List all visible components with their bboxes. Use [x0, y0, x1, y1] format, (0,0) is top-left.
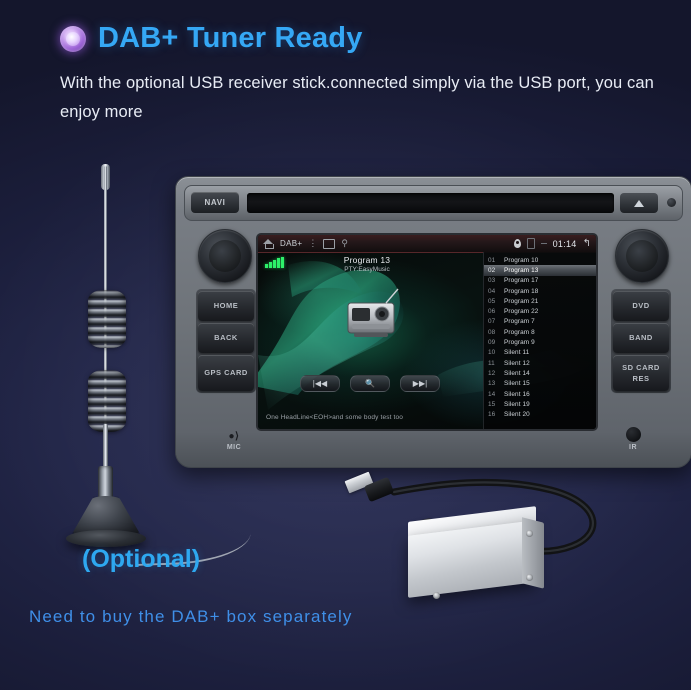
program-index: 06 — [488, 308, 499, 315]
box-screw-icon — [433, 592, 440, 599]
radio-text-ticker: One HeadLine<EOH>and some body test too — [266, 414, 471, 421]
program-list[interactable]: 01Program 1002Program 1303Program 1704Pr… — [483, 252, 596, 429]
program-name: Program 8 — [504, 329, 535, 336]
mic-label: MIC — [227, 444, 241, 451]
microphone: ●⟩ MIC — [214, 432, 254, 451]
program-index: 12 — [488, 370, 499, 377]
radio-receiver-image — [336, 287, 406, 345]
reset-label: RES — [633, 374, 650, 383]
dab-usb-receiver-box — [336, 468, 606, 620]
back-arrow-icon[interactable]: ↰ — [583, 239, 591, 249]
program-name: Program 22 — [504, 308, 538, 315]
program-index: 14 — [488, 391, 499, 398]
program-name: Silent 20 — [504, 411, 530, 418]
program-list-item[interactable]: 11Silent 12 — [484, 358, 596, 368]
source-label: DAB+ — [280, 239, 302, 248]
program-name: Program 10 — [504, 257, 538, 264]
program-name: Silent 15 — [504, 380, 530, 387]
program-name: Program 17 — [504, 277, 538, 284]
program-list-item[interactable]: 13Silent 15 — [484, 379, 596, 389]
display-icon — [323, 239, 335, 249]
stereo-top-bar: NAVI — [184, 185, 683, 221]
program-name: Program 9 — [504, 339, 535, 346]
program-list-item[interactable]: 05Program 21 — [484, 296, 596, 306]
program-index: 08 — [488, 329, 499, 336]
location-pin-icon — [514, 239, 521, 248]
box-screw-icon — [526, 574, 533, 581]
microphone-wave-icon: ●⟩ — [214, 432, 254, 442]
band-hardware-button[interactable]: BAND — [613, 323, 669, 353]
program-list-item[interactable]: 06Program 22 — [484, 306, 596, 316]
usb-icon: ⚲ — [341, 239, 348, 248]
battery-icon — [527, 238, 535, 249]
home-icon[interactable] — [263, 239, 274, 248]
program-list-item[interactable]: 16Silent 20 — [484, 409, 596, 419]
vertical-dots-icon[interactable]: ⋮ — [308, 239, 317, 248]
program-list-item[interactable]: 12Silent 14 — [484, 368, 596, 378]
program-index: 02 — [488, 267, 499, 274]
optional-caption: (Optional) — [82, 545, 200, 574]
transport-controls: |◀◀ 🔍 ▶▶| — [300, 375, 440, 392]
program-list-item[interactable]: 03Program 17 — [484, 276, 596, 286]
program-name: Silent 14 — [504, 370, 530, 377]
sd-card-slot[interactable]: SD CARD RES — [613, 355, 669, 391]
program-name: Silent 19 — [504, 401, 530, 408]
program-name: Silent 16 — [504, 391, 530, 398]
program-list-item[interactable]: 09Program 9 — [484, 337, 596, 347]
eject-triangle-icon — [634, 200, 644, 207]
eject-button[interactable] — [620, 193, 658, 213]
program-index: 07 — [488, 318, 499, 325]
program-index: 10 — [488, 349, 499, 356]
program-name: Silent 11 — [504, 349, 529, 356]
next-track-icon[interactable]: ▶▶| — [400, 375, 440, 392]
program-index: 16 — [488, 411, 499, 418]
sd-card-label: SD CARD — [622, 363, 660, 372]
divider-icon — [541, 243, 547, 244]
program-index: 01 — [488, 257, 499, 264]
disc-slot[interactable] — [247, 193, 614, 213]
now-playing-pty: PTY:EasyMusic — [258, 266, 476, 273]
header-subtitle: With the optional USB receiver stick.con… — [60, 69, 670, 127]
page-title: DAB+ Tuner Ready — [98, 22, 363, 55]
program-index: 11 — [488, 360, 499, 367]
search-scan-icon[interactable]: 🔍 — [350, 375, 390, 392]
dvd-hardware-button[interactable]: DVD — [613, 291, 669, 321]
sensor-dot-icon — [667, 198, 676, 207]
program-list-item[interactable]: 02Program 13 — [484, 265, 596, 275]
title-row: DAB+ Tuner Ready — [60, 22, 671, 55]
purchase-note: Need to buy the DAB+ box separately — [29, 607, 352, 627]
antenna-lower-rod — [103, 424, 108, 472]
dab-glow-icon — [60, 26, 86, 52]
program-list-item[interactable]: 14Silent 16 — [484, 389, 596, 399]
program-list-item[interactable]: 15Silent 19 — [484, 399, 596, 409]
program-index: 03 — [488, 277, 499, 284]
program-list-item[interactable]: 10Silent 11 — [484, 348, 596, 358]
left-button-column: HOME BACK GPS CARD — [196, 289, 256, 393]
program-index: 13 — [488, 380, 499, 387]
previous-track-icon[interactable]: |◀◀ — [300, 375, 340, 392]
screen-status-bar: DAB+ ⋮ ⚲ 01:14 ↰ — [258, 235, 596, 253]
volume-knob[interactable] — [198, 229, 252, 283]
back-hardware-button[interactable]: BACK — [198, 323, 254, 353]
program-index: 05 — [488, 298, 499, 305]
navi-button[interactable]: NAVI — [191, 192, 239, 213]
car-stereo-unit: NAVI HOME BACK GPS CARD DVD BAND SD CARD… — [175, 176, 691, 468]
now-playing-title: Program 13 — [258, 255, 476, 265]
right-button-column: DVD BAND SD CARD RES — [611, 289, 671, 393]
program-index: 15 — [488, 401, 499, 408]
clock: 01:14 — [553, 239, 577, 249]
header: DAB+ Tuner Ready With the optional USB r… — [60, 22, 671, 127]
lcd-screen[interactable]: DAB+ ⋮ ⚲ 01:14 ↰ Program 13 PTY:Ea — [258, 235, 596, 429]
program-name: Program 21 — [504, 298, 538, 305]
program-list-item[interactable]: 01Program 10 — [484, 255, 596, 265]
program-list-item[interactable]: 04Program 18 — [484, 286, 596, 296]
gps-card-label: GPS CARD — [204, 368, 248, 377]
program-name: Program 18 — [504, 288, 538, 295]
antenna-coil-upper — [88, 290, 126, 348]
program-name: Silent 12 — [504, 360, 530, 367]
ir-label: IR — [629, 444, 637, 451]
box-screw-icon — [526, 530, 533, 537]
home-hardware-button[interactable]: HOME — [198, 291, 254, 321]
tune-knob[interactable] — [615, 229, 669, 283]
program-name: Program 7 — [504, 318, 535, 325]
program-list-item[interactable]: 08Program 8 — [484, 327, 596, 337]
gps-card-slot[interactable]: GPS CARD — [198, 355, 254, 391]
ir-receiver-icon — [626, 427, 641, 442]
program-index: 04 — [488, 288, 499, 295]
ir-receiver: IR — [613, 427, 653, 451]
now-playing: Program 13 PTY:EasyMusic — [258, 255, 476, 273]
antenna-coil-lower — [88, 370, 126, 432]
program-index: 09 — [488, 339, 499, 346]
program-name: Program 13 — [504, 267, 538, 274]
program-list-item[interactable]: 07Program 7 — [484, 317, 596, 327]
